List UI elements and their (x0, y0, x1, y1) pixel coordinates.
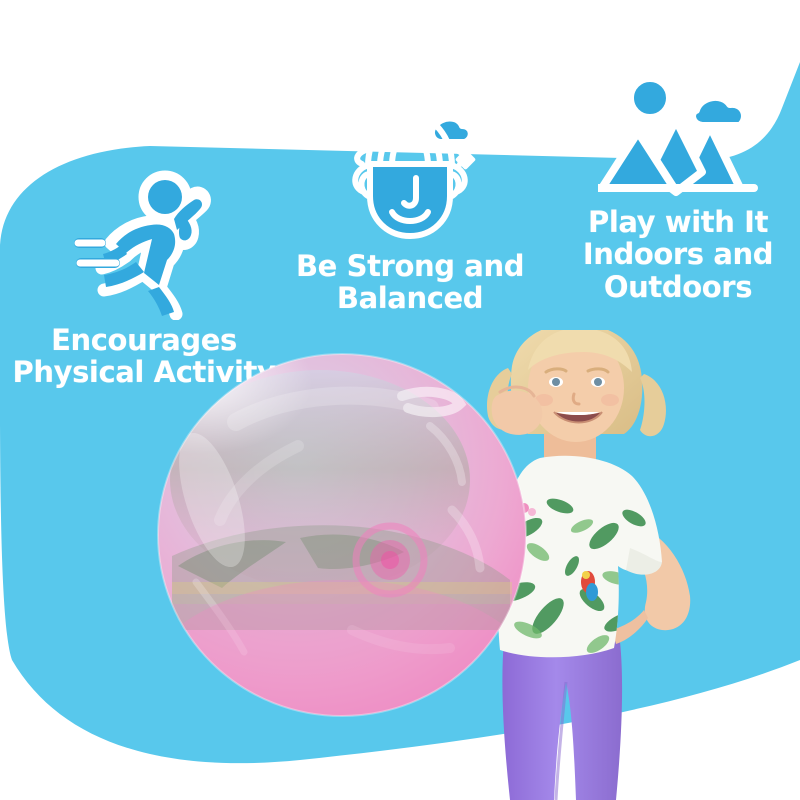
product-feature-banner: Encourages Physical Activity (0, 0, 800, 800)
feature-play-indoors-and-outdoors: Play with It Indoors and Outdoors (556, 62, 800, 303)
face-shape (370, 164, 450, 236)
product-photo (0, 330, 800, 800)
mountains-icon (602, 120, 740, 192)
running-person-icon (64, 170, 224, 320)
head-brain-balance-icon (336, 104, 484, 244)
bubble-ball (130, 348, 542, 800)
pigtail-right (640, 374, 666, 436)
feature-be-strong-and-balanced: Be Strong and Balanced (268, 104, 552, 315)
feature-caption: Play with It Indoors and Outdoors (556, 206, 800, 303)
cloud-icon (692, 97, 745, 126)
eye-left (552, 378, 560, 386)
sun-cloud-mountains-icon (598, 62, 758, 202)
feature-caption: Be Strong and Balanced (268, 250, 552, 315)
eye-right (594, 378, 602, 386)
